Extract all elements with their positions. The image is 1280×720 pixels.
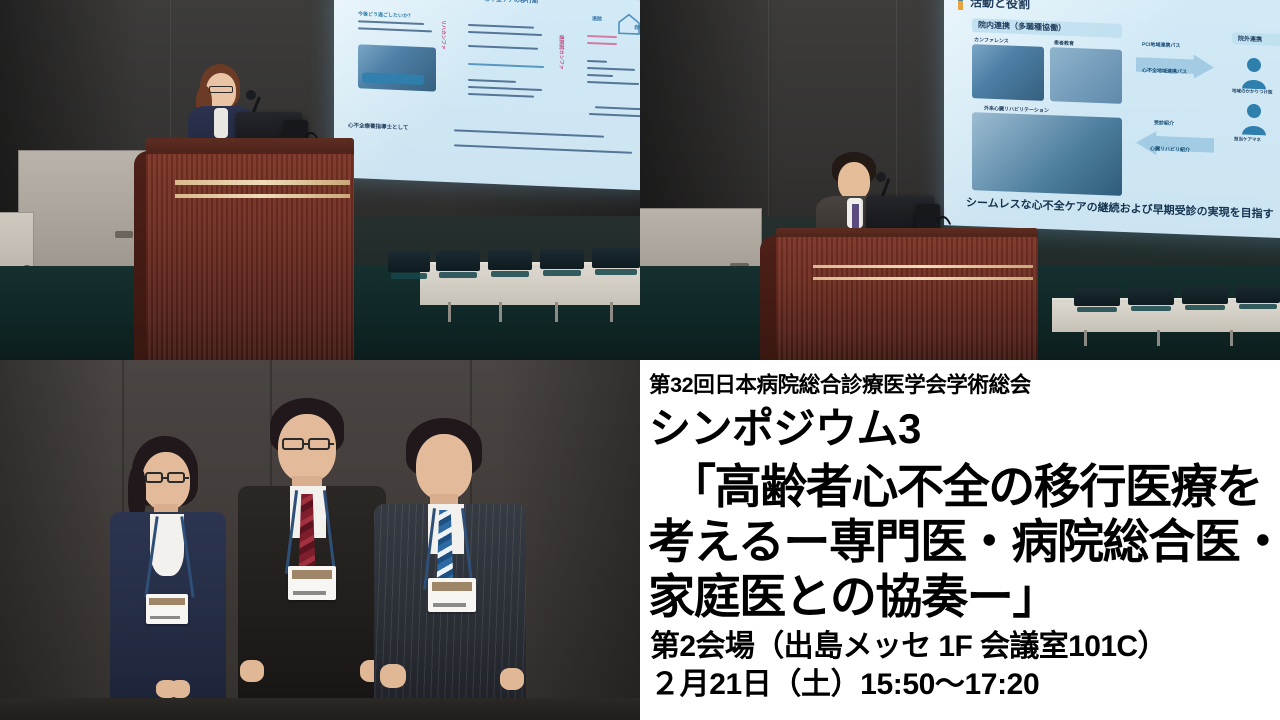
group-photo-floor xyxy=(0,698,640,720)
glasses-icon xyxy=(282,438,304,450)
slide-path-label: 心不全地域連携パス xyxy=(1142,67,1187,76)
hand xyxy=(240,660,264,682)
podium-stripe xyxy=(175,180,350,185)
slide-photo-rehab xyxy=(972,112,1122,196)
chair-seat xyxy=(595,269,637,275)
slide-label-wish: 今後どう過ごしたいか？ xyxy=(358,10,413,19)
head xyxy=(416,434,472,500)
slide-path-label: 心臓リハビリ紹介 xyxy=(1150,145,1190,154)
symposium-number: シンポジウム3 xyxy=(649,408,921,450)
conference-name: 第32回日本病院総合診療医学会学術総会 xyxy=(649,368,1031,399)
audience-chair xyxy=(1182,286,1228,304)
slide-text-line xyxy=(587,60,607,63)
table-leg xyxy=(555,302,558,322)
slide-vertical-label-reha: リハカンファ xyxy=(440,20,447,50)
photo-top-right: 活動と役割 院内連携（多職種協働） カンファレンス 患者教育 外来心臓リハビリテ… xyxy=(640,0,1280,360)
lecture-hall-scene: 心不全治療 心不全ケアの移行期 今後どう過ごしたいか？ リハカンファ 退院前カン… xyxy=(0,0,640,360)
audience-chair xyxy=(540,249,584,269)
session-venue: 第2会場（出島メッセ 1F 会議室101C） xyxy=(650,632,1167,662)
chair-seat xyxy=(491,271,530,277)
slide-text-line xyxy=(587,42,617,45)
slide-title: 活動と役割 xyxy=(970,0,1030,12)
slide-photo-conference xyxy=(972,44,1044,101)
hand xyxy=(500,668,524,690)
slide-photo-education xyxy=(1050,47,1122,104)
slide-text-line xyxy=(587,74,613,77)
necktie xyxy=(852,204,859,230)
audience-chair xyxy=(436,251,480,271)
projection-screen: 心不全治療 心不全ケアの移行期 今後どう過ごしたいか？ リハカンファ 退院前カン… xyxy=(334,0,640,191)
slide-section-label: 院外連携 xyxy=(1238,33,1262,43)
head xyxy=(838,162,870,200)
slide-text-line xyxy=(468,63,544,68)
slide-footer-statement: シームレスな心不全ケアの継続および早期受診の実現を目指す xyxy=(966,194,1274,222)
slide-photo-caption: カンファレンス xyxy=(974,36,1009,44)
person-right xyxy=(374,418,526,720)
microphone-head xyxy=(246,90,256,100)
session-title-line-2: 考えるー専門医・病院総合医・ xyxy=(648,518,1280,565)
session-title-line-3: 家庭医との協奏ー」 xyxy=(648,573,1058,620)
poster-collage: 心不全治療 心不全ケアの移行期 今後どう過ごしたいか？ リハカンファ 退院前カン… xyxy=(0,0,1280,720)
slide-text-line xyxy=(587,67,635,71)
slide-embedded-photo xyxy=(358,44,436,91)
chair-seat xyxy=(1239,304,1278,309)
chair-seat xyxy=(439,272,478,278)
audience-chair xyxy=(592,248,640,268)
slide-text-line xyxy=(468,24,534,29)
slide-text-line xyxy=(468,31,542,36)
badge-strip xyxy=(432,582,472,591)
table-leg xyxy=(1084,330,1087,346)
glasses-icon xyxy=(167,472,185,483)
slide-path-label: PCI地域連携パス xyxy=(1142,41,1180,49)
wall-seam xyxy=(768,0,769,223)
arrow-left-icon xyxy=(1136,130,1214,157)
badge-name-text xyxy=(150,616,179,619)
slide-text-line xyxy=(358,27,432,32)
hand xyxy=(380,664,406,688)
podium xyxy=(776,228,1038,360)
podium-stripe xyxy=(813,265,1033,268)
slide-person-label: 地域のかかりつけ医 xyxy=(1232,88,1273,96)
slide-text-line xyxy=(468,45,538,50)
glasses-icon xyxy=(308,438,330,450)
podium-stripe xyxy=(175,194,350,199)
group-portrait-scene xyxy=(0,360,640,720)
slide-path-label: 受診紹介 xyxy=(1154,119,1174,127)
chair-seat xyxy=(543,270,582,276)
slide-text-line xyxy=(468,86,542,91)
person-left xyxy=(106,436,230,720)
slide-text-line xyxy=(454,129,604,137)
slide-accent-bar-orange xyxy=(958,1,963,10)
audience-chair xyxy=(488,250,532,270)
slide-text-line xyxy=(595,106,640,110)
podium xyxy=(146,138,354,360)
podium-stripe xyxy=(813,277,1033,280)
doctor-icon xyxy=(1240,54,1268,89)
slide-person-label: 担当ケアマネ xyxy=(1234,136,1261,143)
slide-text-line xyxy=(358,20,424,25)
audience-chair xyxy=(1128,287,1174,305)
badge-strip xyxy=(292,570,332,579)
slide-text-line xyxy=(468,79,516,83)
table-leg xyxy=(448,302,451,322)
hand xyxy=(170,680,190,698)
care-manager-icon xyxy=(1240,100,1268,135)
audience-chair xyxy=(1074,288,1120,306)
slide-label-discharge: 退院 xyxy=(592,15,602,22)
slide-text-line xyxy=(468,93,534,98)
glasses-icon xyxy=(145,472,163,483)
projection-screen: 活動と役割 院内連携（多職種協働） カンファレンス 患者教育 外来心臓リハビリテ… xyxy=(944,0,1280,239)
blouse xyxy=(214,108,228,138)
audience-chair xyxy=(388,252,430,272)
table-leg xyxy=(1230,330,1233,346)
slide-text-line xyxy=(587,81,639,85)
slide-text-line xyxy=(587,35,617,38)
session-info-text: 第32回日本病院総合診療医学会学術総会 シンポジウム3 「高齢者心不全の移行医療… xyxy=(640,360,1280,720)
glasses-icon xyxy=(209,86,233,93)
person-center xyxy=(238,398,386,720)
slide-subheading: 心不全ケアの移行期 xyxy=(484,0,538,5)
chair-seat xyxy=(1077,307,1117,312)
photo-bottom-left xyxy=(0,360,640,720)
audience-chair xyxy=(1236,285,1280,303)
chair-seat xyxy=(391,273,428,279)
slide-vertical-label-taiin: 退院前カンファ xyxy=(558,35,565,70)
badge-name-text xyxy=(433,603,467,606)
microphone-head xyxy=(876,172,886,182)
name-badge xyxy=(146,594,188,624)
slide-text-line xyxy=(589,113,640,117)
table-leg xyxy=(610,302,613,322)
badge-name-text xyxy=(293,591,327,594)
session-title-line-1: 「高齢者心不全の移行医療を xyxy=(669,463,1262,510)
lecture-hall-scene: 活動と役割 院内連携（多職種協働） カンファレンス 患者教育 外来心臓リハビリテ… xyxy=(640,0,1280,360)
chair-seat xyxy=(1131,306,1171,311)
wall-seam xyxy=(896,0,897,223)
photo-top-left: 心不全治療 心不全ケアの移行期 今後どう過ごしたいか？ リハカンファ 退院前カン… xyxy=(0,0,640,360)
name-badge xyxy=(428,578,476,612)
slide-photo-caption: 患者教育 xyxy=(1054,39,1074,47)
badge-strip xyxy=(149,598,184,606)
session-info-panel: 第32回日本病院総合診療医学会学術総会 シンポジウム3 「高齢者心不全の移行医療… xyxy=(640,360,1280,720)
podium-body xyxy=(776,237,1038,360)
name-badge xyxy=(288,566,336,600)
table-leg xyxy=(1157,330,1160,346)
chair-seat xyxy=(1185,305,1225,310)
session-datetime: ２月21日（土）15:50〜17:20 xyxy=(650,670,1039,700)
table-leg xyxy=(499,302,502,322)
slide-text-line xyxy=(454,144,632,153)
slide-footer-role: 心不全療養指導士として xyxy=(348,121,408,132)
